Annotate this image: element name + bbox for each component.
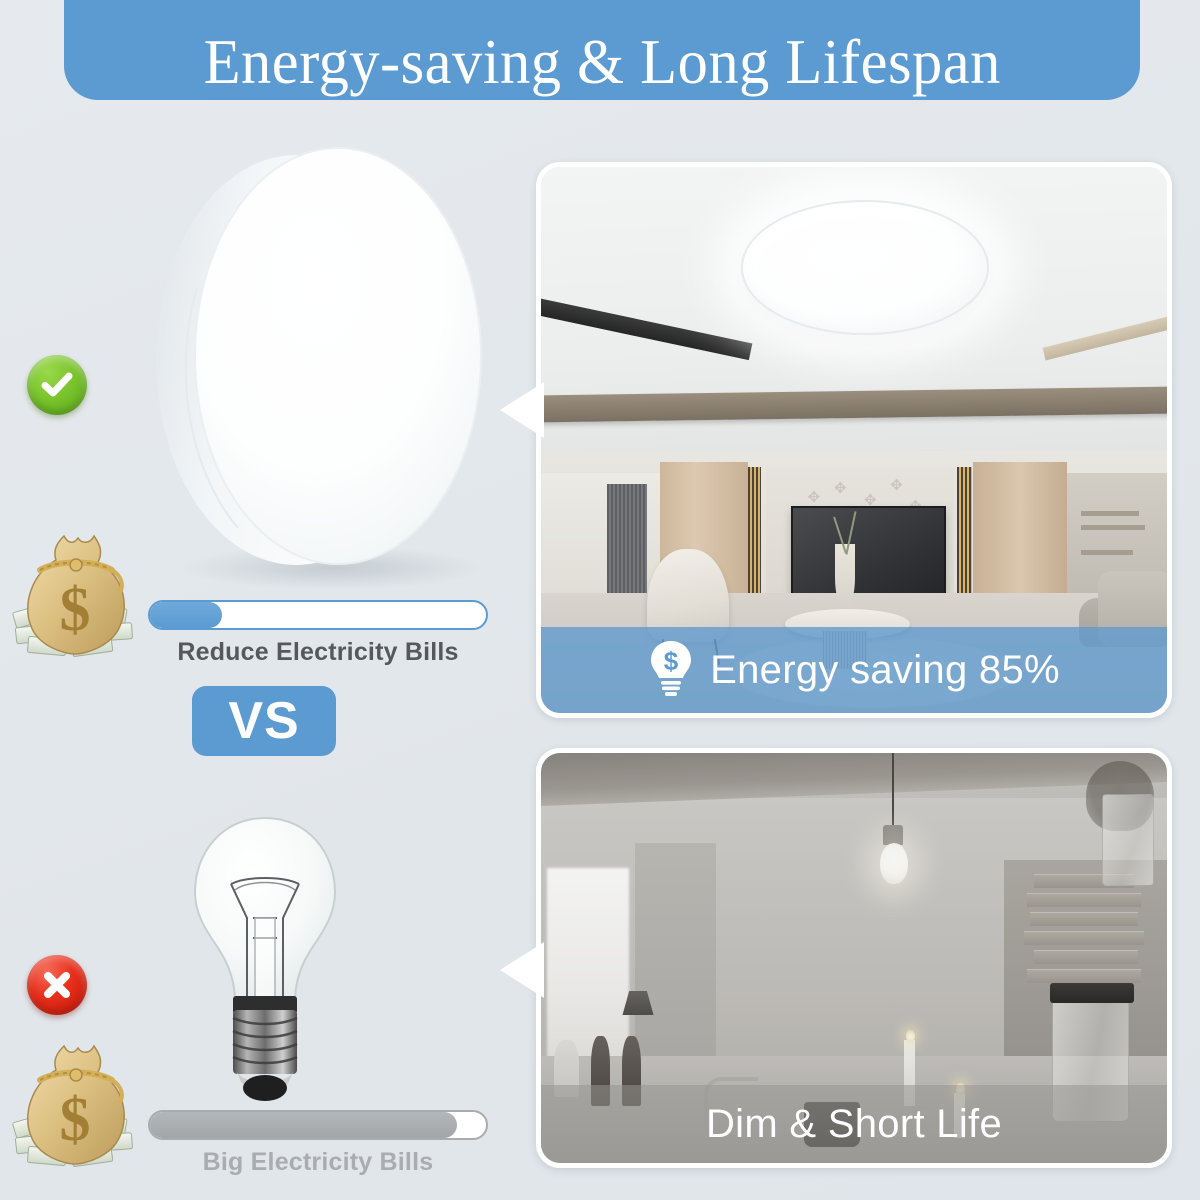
led-slat-left bbox=[748, 467, 762, 593]
progress-bar-track bbox=[148, 1110, 488, 1140]
candle-flame bbox=[906, 1029, 915, 1042]
led-ceiling-light-installed bbox=[741, 200, 989, 335]
vs-badge: VS bbox=[192, 686, 336, 756]
progress-bar-track bbox=[148, 600, 488, 630]
blender-lid bbox=[1050, 983, 1135, 1004]
meter-label: Reduce Electricity Bills bbox=[148, 638, 488, 667]
money-bag-icon: $ bbox=[12, 1040, 138, 1172]
check-circle-icon bbox=[27, 355, 87, 415]
hanging-incandescent-bulb bbox=[880, 843, 908, 884]
header-banner: Energy-saving & Long Lifespan bbox=[64, 0, 1140, 100]
vs-label: VS bbox=[228, 695, 299, 747]
incandescent-bulb-image bbox=[175, 810, 355, 1110]
svg-text:$: $ bbox=[664, 646, 679, 676]
callout-pointer-bottom bbox=[492, 942, 544, 998]
led-slat-right bbox=[957, 467, 972, 593]
photo-card-energy-saving: ✥ ✥ ✥ ✥ ✥ ✥ ✥ ✥ ✥ ✥ ✥ ✥ ✥ bbox=[536, 162, 1172, 718]
callout-pointer-top bbox=[492, 382, 544, 438]
energy-saving-caption: Energy saving 85% bbox=[710, 648, 1060, 693]
lamp-diffuser bbox=[758, 217, 973, 322]
svg-text:$: $ bbox=[60, 1086, 91, 1154]
lightbulb-dollar-icon: $ bbox=[648, 639, 694, 702]
x-circle-icon bbox=[27, 955, 87, 1015]
comparison-left-column: $ $ bbox=[0, 110, 520, 1200]
led-ceiling-light-image bbox=[128, 138, 510, 590]
energy-saving-caption-bar: $ Energy saving 85% bbox=[541, 627, 1167, 713]
meter-label: Big Electricity Bills bbox=[148, 1148, 488, 1177]
page-title: Energy-saving & Long Lifespan bbox=[203, 31, 1000, 94]
pendant-socket bbox=[883, 825, 903, 846]
kitchen-door bbox=[607, 484, 648, 593]
big-electricity-bills-meter: Big Electricity Bills bbox=[148, 1110, 488, 1177]
svg-text:$: $ bbox=[60, 576, 91, 644]
progress-bar-fill bbox=[148, 602, 222, 628]
dim-short-life-caption-bar: Dim & Short Life bbox=[541, 1085, 1167, 1163]
product-comparison-infographic: Energy-saving & Long Lifespan bbox=[0, 0, 1200, 1200]
dim-short-life-caption: Dim & Short Life bbox=[706, 1102, 1002, 1147]
photo-card-dim-short-life: Dim & Short Life bbox=[536, 748, 1172, 1168]
money-bag-icon: $ bbox=[12, 530, 138, 662]
progress-bar-fill bbox=[148, 1112, 457, 1138]
pendant-cord bbox=[892, 753, 894, 827]
reduce-electricity-bills-meter: Reduce Electricity Bills bbox=[148, 600, 488, 667]
